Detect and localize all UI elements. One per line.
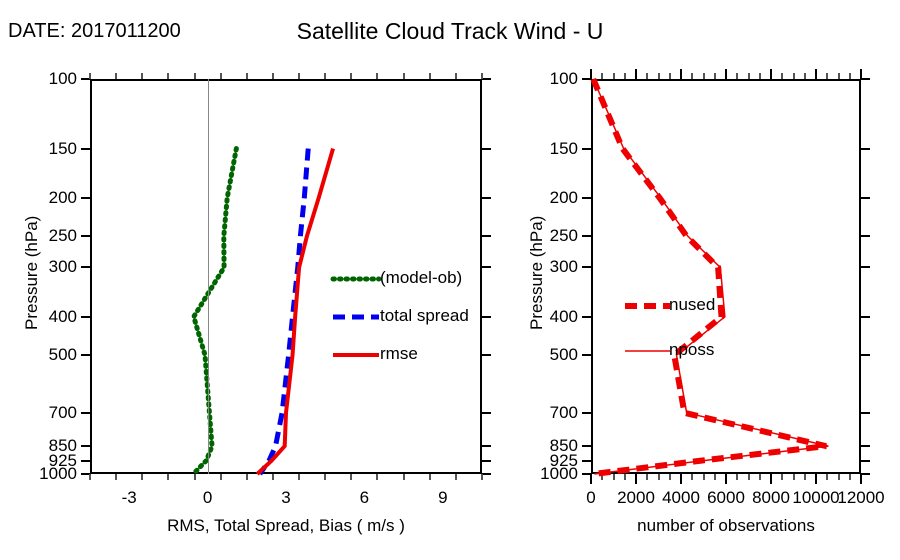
inline-swatch-nposs [625,347,670,355]
inline-label-nused: nused [669,295,715,315]
inline-swatch-nused [625,302,670,310]
series-line-nused [593,79,826,474]
series-line-nposs [593,79,828,474]
right-series-plot [0,0,900,560]
inline-label-nposs: nposs [669,340,714,360]
chart-page: DATE: 2017011200 Satellite Cloud Track W… [0,0,900,560]
